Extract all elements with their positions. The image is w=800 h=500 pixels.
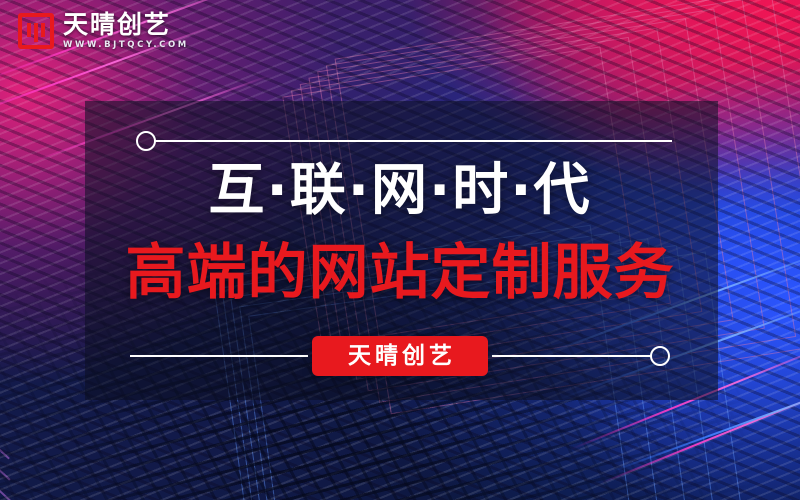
brand-badge[interactable]: 天晴创艺 <box>312 336 488 376</box>
brand-website-url: WWW.BJTQCY.COM <box>63 41 189 50</box>
headline: 互·联·网·时·代 <box>0 163 800 219</box>
brand-company-name: 天晴创艺 <box>63 12 189 37</box>
rule-top <box>155 140 672 142</box>
promo-banner: 天晴创艺 WWW.BJTQCY.COM 互·联·网·时·代 高端的网站定制服务 … <box>0 0 800 500</box>
brand-badge-label: 天晴创艺 <box>344 345 456 368</box>
tianqing-logo-icon <box>18 13 54 49</box>
circle-outline-top-left-icon <box>136 131 156 151</box>
brand-logo-text: 天晴创艺 WWW.BJTQCY.COM <box>63 12 189 50</box>
brand-logo[interactable]: 天晴创艺 WWW.BJTQCY.COM <box>18 12 189 50</box>
circle-outline-bottom-right-icon <box>650 346 670 366</box>
subheadline: 高端的网站定制服务 <box>0 243 800 303</box>
rule-bottom-right <box>492 355 652 357</box>
rule-bottom-left <box>130 355 308 357</box>
